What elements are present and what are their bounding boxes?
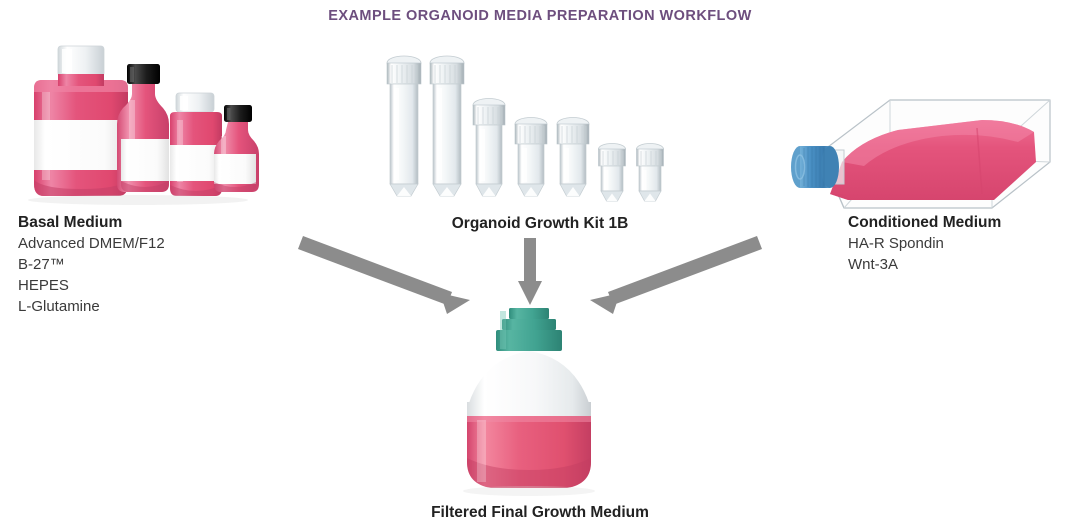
filter-bottle-medium (467, 416, 591, 488)
final-medium-caption: Filtered Final Growth Medium (0, 503, 1080, 523)
filter-bottle-housing (467, 351, 591, 416)
workflow-diagram: EXAMPLE ORGANOID MEDIA PREPARATION WORKF… (0, 0, 1080, 532)
final-medium-artwork (447, 305, 617, 500)
final-medium-heading: Filtered Final Growth Medium (0, 503, 1080, 523)
arrow-kit-to-final (518, 238, 542, 305)
filter-bottle-cap (496, 308, 562, 351)
arrow-basal-to-final (298, 236, 470, 314)
arrow-conditioned-to-final (590, 236, 762, 314)
